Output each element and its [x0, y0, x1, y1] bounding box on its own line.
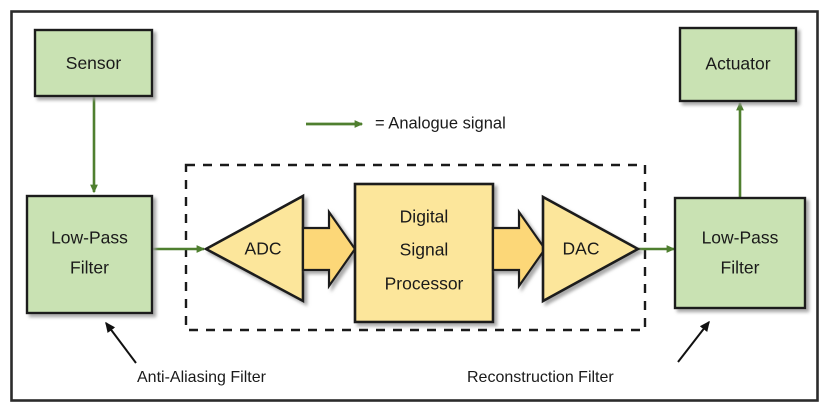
- block-dsp[interactable]: Digital Signal Processor: [355, 184, 493, 322]
- annotation-anti-aliasing-label: Anti-Aliasing Filter: [137, 369, 267, 386]
- block-dsp-label-line1: Digital: [400, 207, 449, 227]
- annotation-reconstruction-label: Reconstruction Filter: [467, 369, 614, 386]
- legend-text: = Analogue signal: [375, 114, 506, 132]
- block-lpf-output-label-line2: Filter: [721, 258, 760, 278]
- block-sensor[interactable]: Sensor: [35, 30, 152, 96]
- block-lpf-output-label-line1: Low-Pass: [702, 228, 779, 248]
- block-dac-label: DAC: [563, 239, 600, 259]
- block-actuator-label: Actuator: [705, 54, 770, 74]
- block-lpf-input-label-line1: Low-Pass: [51, 228, 128, 248]
- block-lpf-output-rect: [675, 198, 805, 308]
- block-sensor-label: Sensor: [66, 53, 122, 73]
- dsp-block-diagram: Sensor Low-Pass Filter ADC Digital Signa…: [0, 0, 829, 413]
- block-dsp-label-line2: Signal: [400, 240, 449, 260]
- block-lpf-input-label-line2: Filter: [70, 258, 109, 278]
- block-dsp-label-line3: Processor: [385, 274, 464, 294]
- block-actuator[interactable]: Actuator: [680, 28, 796, 101]
- block-lpf-input-rect: [27, 196, 152, 313]
- block-lpf-input[interactable]: Low-Pass Filter: [27, 196, 152, 313]
- block-adc-label: ADC: [245, 239, 282, 259]
- block-lpf-output[interactable]: Low-Pass Filter: [675, 198, 805, 308]
- diagram-canvas: Sensor Low-Pass Filter ADC Digital Signa…: [0, 0, 829, 413]
